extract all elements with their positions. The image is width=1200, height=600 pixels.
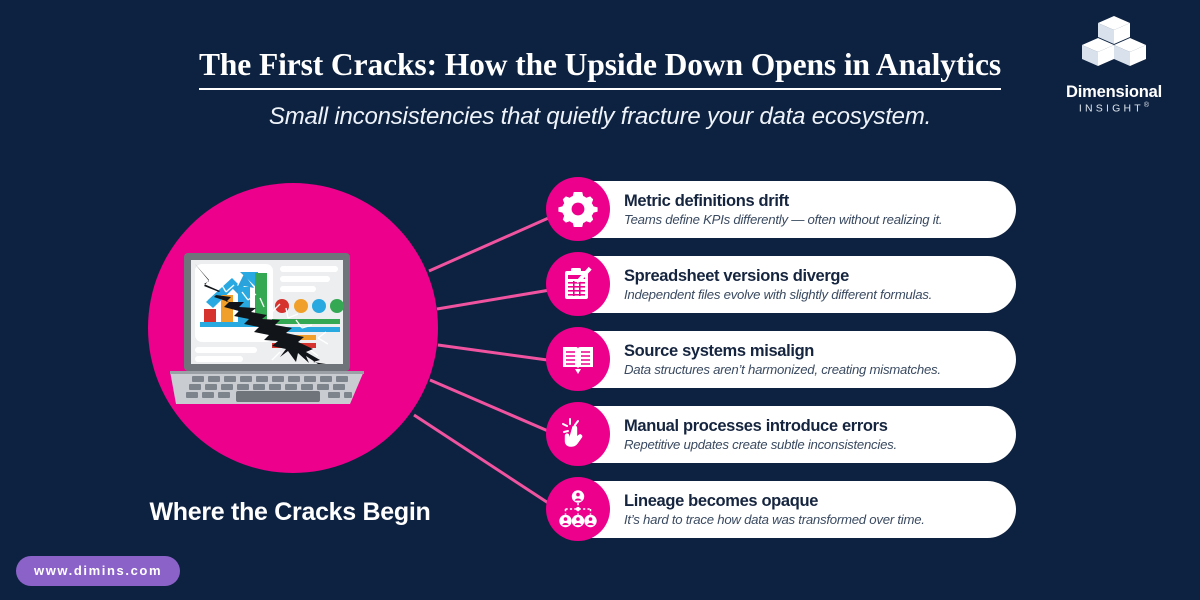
list-item-title: Source systems misalign	[624, 342, 941, 361]
click-hand-icon	[546, 402, 610, 466]
list-item[interactable]: Source systems misalign Data structures …	[548, 331, 1016, 388]
list-item-text: Source systems misalign Data structures …	[624, 342, 941, 378]
page-title: The First Cracks: How the Upside Down Op…	[199, 48, 1001, 90]
list-item-text: Lineage becomes opaque It’s hard to trac…	[624, 492, 925, 528]
list-item-subtitle: Independent files evolve with slightly d…	[624, 287, 932, 303]
list-item[interactable]: Metric definitions drift Teams define KP…	[548, 181, 1016, 238]
company-logo: Dimensional INSIGHT®	[1050, 14, 1178, 115]
page-subtitle: Small inconsistencies that quietly fract…	[0, 103, 1200, 131]
open-book-icon	[546, 327, 610, 391]
list-item-title: Spreadsheet versions diverge	[624, 267, 932, 286]
list-item-subtitle: Repetitive updates create subtle inconsi…	[624, 437, 897, 453]
list-item[interactable]: Manual processes introduce errors Repeti…	[548, 406, 1016, 463]
list-item-text: Spreadsheet versions diverge Independent…	[624, 267, 932, 303]
org-chart-icon	[546, 477, 610, 541]
connector-line-4	[430, 380, 562, 437]
list-item-subtitle: Data structures aren’t harmonized, creat…	[624, 362, 941, 378]
list-item[interactable]: Spreadsheet versions diverge Independent…	[548, 256, 1016, 313]
list-item-title: Manual processes introduce errors	[624, 417, 897, 436]
list-item[interactable]: Lineage becomes opaque It’s hard to trac…	[548, 481, 1016, 538]
connector-line-1	[429, 212, 562, 271]
logo-brand-primary: Dimensional	[1050, 83, 1178, 102]
list-item-title: Lineage becomes opaque	[624, 492, 925, 511]
list-item-text: Manual processes introduce errors Repeti…	[624, 417, 897, 453]
list-item-subtitle: Teams define KPIs differently — often wi…	[624, 212, 942, 228]
hub-label: Where the Cracks Begin	[0, 498, 580, 527]
list-item-title: Metric definitions drift	[624, 192, 942, 211]
website-url-badge[interactable]: www.dimins.com	[16, 556, 180, 586]
cubes-logo-icon	[1050, 14, 1178, 81]
connector-line-2	[437, 288, 562, 309]
list-item-subtitle: It’s hard to trace how data was transfor…	[624, 512, 925, 528]
header: The First Cracks: How the Upside Down Op…	[0, 48, 1200, 131]
infographic-canvas: The First Cracks: How the Upside Down Op…	[0, 0, 1200, 600]
trademark-mark: ®	[1144, 102, 1149, 109]
gear-icon	[546, 177, 610, 241]
cracked-laptop-illustration	[168, 252, 400, 407]
list-item-text: Metric definitions drift Teams define KP…	[624, 192, 942, 228]
connector-line-3	[438, 345, 562, 362]
logo-brand-secondary-text: INSIGHT	[1079, 103, 1144, 115]
spreadsheet-pencil-icon	[546, 252, 610, 316]
logo-brand-secondary: INSIGHT®	[1050, 102, 1178, 115]
